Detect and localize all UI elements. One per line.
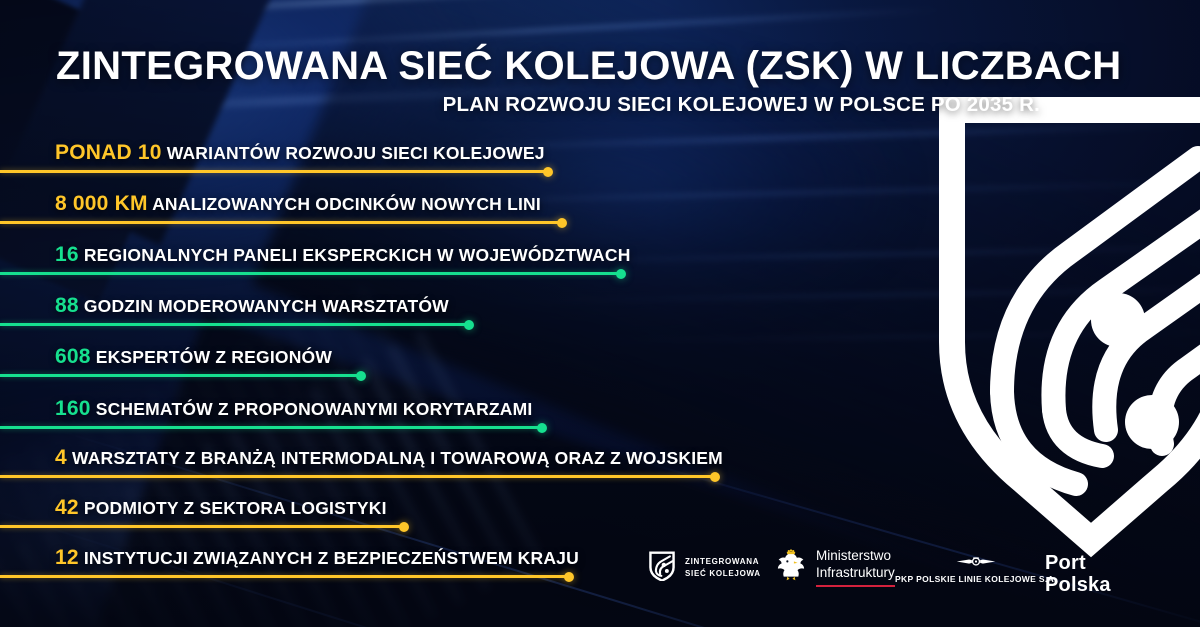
stat-label: WARIANTÓW ROZWOJU SIECI KOLEJOWEJ bbox=[162, 143, 545, 163]
stat-value: 8 000 KM bbox=[55, 192, 148, 215]
plk-logo-text: PKP POLSKIE LINIE KOLEJOWE S.A. bbox=[895, 574, 1057, 584]
stat-label: ANALIZOWANYCH ODCINKÓW NOWYCH LINI bbox=[148, 194, 541, 214]
stat-label: SCHEMATÓW Z PROPONOWANYMI KORYTARZAMI bbox=[91, 399, 533, 419]
stat-value: 16 bbox=[55, 243, 79, 266]
stat-value: PONAD 10 bbox=[55, 141, 162, 164]
stat-bar-endpoint bbox=[710, 472, 720, 482]
stat-row-text: 16 REGIONALNYCH PANELI EKSPERCKICH W WOJ… bbox=[55, 243, 631, 267]
stat-label: REGIONALNYCH PANELI EKSPERCKICH W WOJEWÓ… bbox=[79, 245, 631, 265]
stat-bar bbox=[0, 525, 404, 528]
stat-row: PONAD 10 WARIANTÓW ROZWOJU SIECI KOLEJOW… bbox=[0, 139, 1200, 173]
footer-logos: ZINTEGROWANA SIEĆ KOLEJOWA Ministerstwo … bbox=[0, 540, 1200, 610]
stat-label: WARSZTATY Z BRANŻĄ INTERMODALNĄ I TOWARO… bbox=[67, 448, 723, 468]
stat-row-text: 8 000 KM ANALIZOWANYCH ODCINKÓW NOWYCH L… bbox=[55, 192, 541, 216]
zsk-logo-line2: SIEĆ KOLEJOWA bbox=[685, 569, 761, 578]
stat-value: 88 bbox=[55, 294, 79, 317]
logo-port-polska: Port Polska bbox=[1045, 552, 1111, 597]
stat-bar bbox=[0, 272, 621, 275]
statistics-list: PONAD 10 WARIANTÓW ROZWOJU SIECI KOLEJOW… bbox=[0, 0, 1200, 627]
stat-bar bbox=[0, 426, 542, 429]
stat-row: 608 EKSPERTÓW Z REGIONÓW bbox=[0, 343, 1200, 377]
stat-bar-endpoint bbox=[616, 269, 626, 279]
stat-row: 4 WARSZTATY Z BRANŻĄ INTERMODALNĄ I TOWA… bbox=[0, 444, 1200, 478]
stat-row-text: 160 SCHEMATÓW Z PROPONOWANYMI KORYTARZAM… bbox=[55, 397, 532, 421]
stat-value: 42 bbox=[55, 496, 79, 519]
stat-bar-endpoint bbox=[399, 522, 409, 532]
ministry-logo-rule bbox=[816, 585, 895, 588]
stat-bar bbox=[0, 170, 548, 173]
stat-value: 4 bbox=[55, 446, 67, 469]
stat-row: 42 PODMIOTY Z SEKTORA LOGISTYKI bbox=[0, 494, 1200, 528]
stat-row: 16 REGIONALNYCH PANELI EKSPERCKICH W WOJ… bbox=[0, 241, 1200, 275]
stat-row-text: 42 PODMIOTY Z SEKTORA LOGISTYKI bbox=[55, 496, 387, 520]
stat-value: 608 bbox=[55, 345, 91, 368]
ministry-logo-line2: Infrastruktury bbox=[816, 565, 895, 582]
stat-label: GODZIN MODEROWANYCH WARSZTATÓW bbox=[79, 296, 449, 316]
stat-row: 88 GODZIN MODEROWANYCH WARSZTATÓW bbox=[0, 292, 1200, 326]
zsk-shield-icon bbox=[648, 550, 676, 586]
port-polska-line2: Polska bbox=[1045, 574, 1111, 596]
logo-pkp-plk: PKP POLSKIE LINIE KOLEJOWE S.A. bbox=[895, 554, 1057, 584]
stat-label: PODMIOTY Z SEKTORA LOGISTYKI bbox=[79, 498, 387, 518]
stat-bar-endpoint bbox=[557, 218, 567, 228]
stat-bar bbox=[0, 475, 715, 478]
stat-bar-endpoint bbox=[537, 423, 547, 433]
stat-bar bbox=[0, 323, 469, 326]
stat-row-text: PONAD 10 WARIANTÓW ROZWOJU SIECI KOLEJOW… bbox=[55, 141, 545, 165]
stat-row-text: 88 GODZIN MODEROWANYCH WARSZTATÓW bbox=[55, 294, 449, 318]
stat-bar-endpoint bbox=[356, 371, 366, 381]
port-polska-logo-text: Port Polska bbox=[1045, 552, 1111, 597]
stat-row-text: 608 EKSPERTÓW Z REGIONÓW bbox=[55, 345, 332, 369]
stat-bar-endpoint bbox=[464, 320, 474, 330]
stat-bar-endpoint bbox=[543, 167, 553, 177]
stat-row: 160 SCHEMATÓW Z PROPONOWANYMI KORYTARZAM… bbox=[0, 395, 1200, 429]
stat-bar bbox=[0, 374, 361, 377]
stat-row-text: 4 WARSZTATY Z BRANŻĄ INTERMODALNĄ I TOWA… bbox=[55, 446, 723, 470]
stat-label: EKSPERTÓW Z REGIONÓW bbox=[91, 347, 332, 367]
winged-wheel-icon bbox=[955, 554, 997, 572]
polish-eagle-icon bbox=[775, 548, 807, 587]
logo-ministerstwo-infrastruktury: Ministerstwo Infrastruktury bbox=[775, 548, 895, 587]
stat-row: 8 000 KM ANALIZOWANYCH ODCINKÓW NOWYCH L… bbox=[0, 190, 1200, 224]
stat-bar bbox=[0, 221, 562, 224]
port-polska-line1: Port bbox=[1045, 552, 1111, 574]
zsk-logo-text: ZINTEGROWANA SIEĆ KOLEJOWA bbox=[685, 556, 761, 579]
ministry-logo-text: Ministerstwo Infrastruktury bbox=[816, 548, 895, 587]
zsk-logo-line1: ZINTEGROWANA bbox=[685, 557, 759, 566]
ministry-logo-line1: Ministerstwo bbox=[816, 548, 895, 565]
logo-zintegrowana-siec-kolejowa: ZINTEGROWANA SIEĆ KOLEJOWA bbox=[648, 550, 761, 586]
stat-value: 160 bbox=[55, 397, 91, 420]
